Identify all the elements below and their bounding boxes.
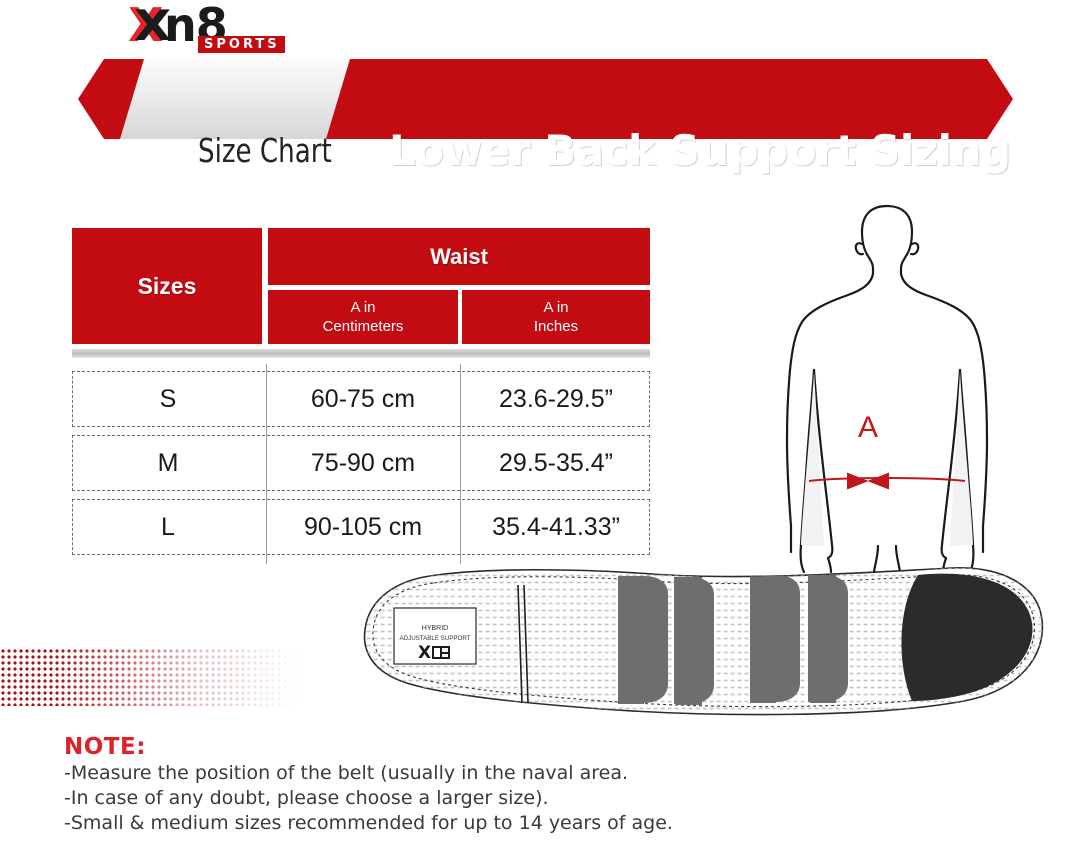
header-cm-line1: A in: [323, 298, 404, 317]
table-row: S 60-75 cm 23.6-29.5”: [72, 371, 650, 427]
column-divider: [266, 428, 267, 500]
cell-cm: 90-105 cm: [267, 500, 459, 554]
column-divider: [460, 364, 461, 436]
cell-size: L: [73, 500, 263, 554]
measure-label-a: A: [858, 411, 878, 444]
column-divider: [266, 492, 267, 564]
header-cell-inches: A in Inches: [462, 290, 650, 344]
cell-inches: 23.6-29.5”: [461, 372, 651, 426]
note-line: -Measure the position of the belt (usual…: [64, 761, 824, 786]
column-divider: [266, 364, 267, 436]
belt-svg: HYBRID ADJUSTABLE SUPPORT X: [352, 558, 1052, 723]
arm-shade-left: [801, 372, 824, 546]
note-line: -Small & medium sizes recommended for up…: [64, 811, 824, 836]
page-title: Lower Back Support Sizing: [389, 127, 1011, 175]
title-banner: Size Chart Lower Back Support Sizing: [78, 59, 1013, 139]
belt-product-image: HYBRID ADJUSTABLE SUPPORT X: [352, 558, 1052, 723]
torso-figure-svg: A: [762, 200, 1012, 575]
header-cell-sizes: Sizes: [72, 228, 262, 344]
arm-shade-right: [950, 372, 973, 546]
belt-label-logo-x: X: [418, 643, 431, 663]
cell-size: S: [73, 372, 263, 426]
note-line: -In case of any doubt, please choose a l…: [64, 786, 824, 811]
table-row: M 75-90 cm 29.5-35.4”: [72, 435, 650, 491]
size-table-header: Sizes Waist A in Centimeters A in Inches: [72, 228, 650, 347]
cell-inches: 35.4-41.33”: [461, 500, 651, 554]
body-measurement-diagram: A: [762, 200, 1012, 575]
header-cm-line2: Centimeters: [323, 317, 404, 336]
column-divider: [460, 428, 461, 500]
header-underline-bar: [72, 349, 650, 358]
logo-sports-badge: SPORTS: [198, 36, 285, 53]
belt-label-line1: HYBRID: [422, 625, 448, 632]
size-table-body: S 60-75 cm 23.6-29.5” M 75-90 cm 29.5-35…: [72, 371, 650, 563]
cell-inches: 29.5-35.4”: [461, 436, 651, 490]
size-chart-page: X X n8 SPORTS Size Chart Lower Back Supp…: [0, 0, 1080, 845]
halftone-gradient-decoration: [0, 648, 300, 706]
cell-cm: 60-75 cm: [267, 372, 459, 426]
header-cell-centimeters: A in Centimeters: [268, 290, 458, 344]
belt-label-tag: HYBRID ADJUSTABLE SUPPORT X: [394, 608, 476, 664]
banner-tag-label: Size Chart: [198, 133, 332, 169]
size-table: Sizes Waist A in Centimeters A in Inches…: [72, 228, 650, 347]
header-cell-waist: Waist: [268, 228, 650, 285]
table-row: L 90-105 cm 35.4-41.33”: [72, 499, 650, 555]
waist-measure-arrow-icon: [809, 474, 965, 488]
cell-cm: 75-90 cm: [267, 436, 459, 490]
note-section: NOTE: -Measure the position of the belt …: [64, 733, 824, 836]
cell-size: M: [73, 436, 263, 490]
belt-label-line2: ADJUSTABLE SUPPORT: [400, 635, 471, 642]
banner-gray-tag-shape: [120, 59, 350, 139]
column-divider: [460, 492, 461, 564]
brand-logo: X X n8 SPORTS: [128, 2, 303, 54]
header-in-line1: A in: [534, 298, 578, 317]
header-in-line2: Inches: [534, 317, 578, 336]
note-title: NOTE:: [64, 733, 824, 761]
